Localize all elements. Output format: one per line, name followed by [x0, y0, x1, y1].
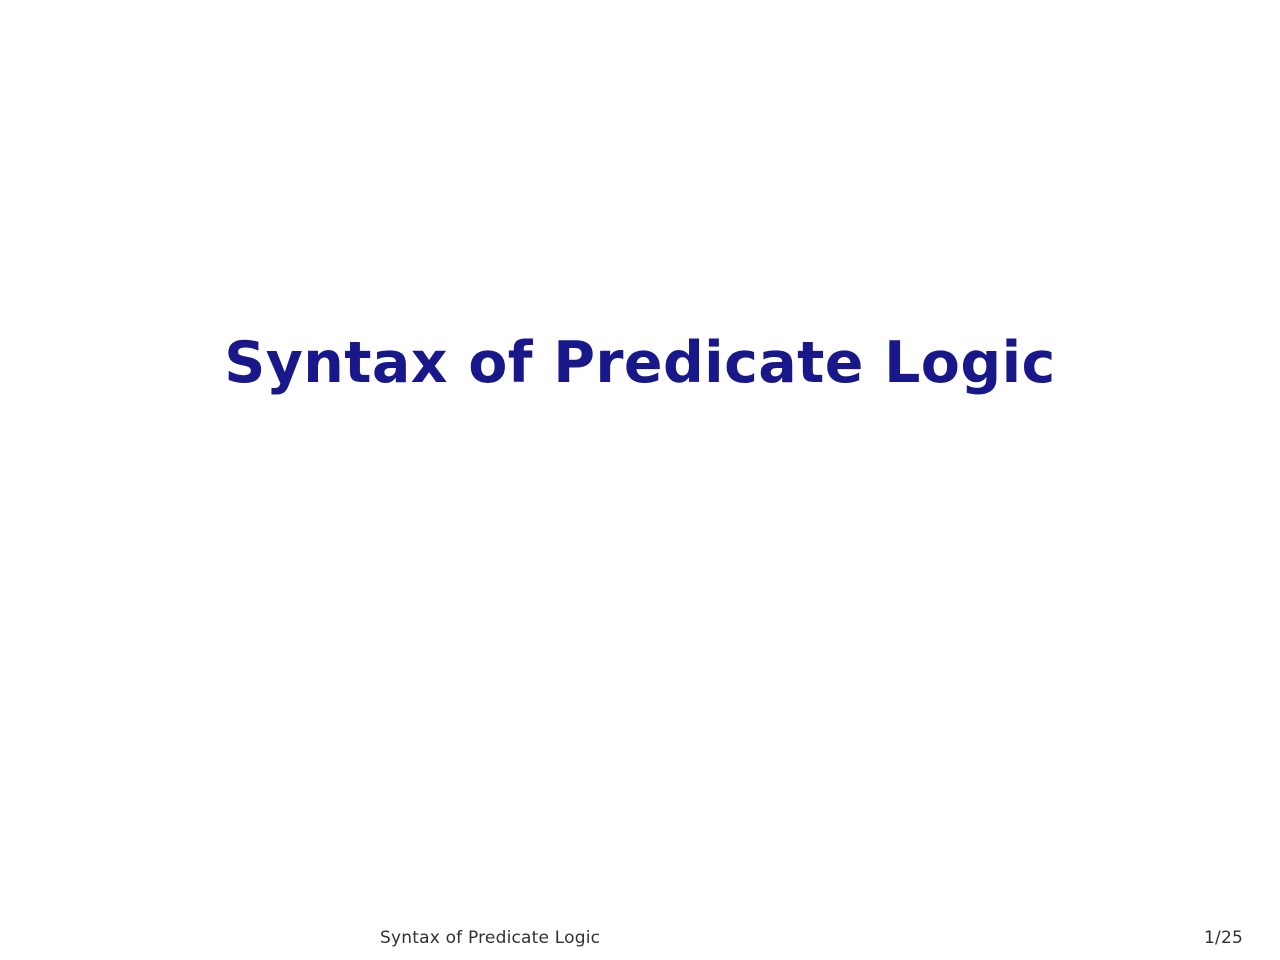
footline-short-title: Syntax of Predicate Logic — [380, 928, 600, 948]
footline: Syntax of Predicate Logic 1/25 — [0, 902, 1280, 960]
presentation-slide: Syntax of Predicate Logic Syntax of Pred… — [0, 0, 1280, 960]
slide-title: Syntax of Predicate Logic — [224, 334, 1055, 394]
slide-body-content — [140, 430, 1140, 870]
footline-page-number: 1/25 — [1204, 928, 1243, 948]
